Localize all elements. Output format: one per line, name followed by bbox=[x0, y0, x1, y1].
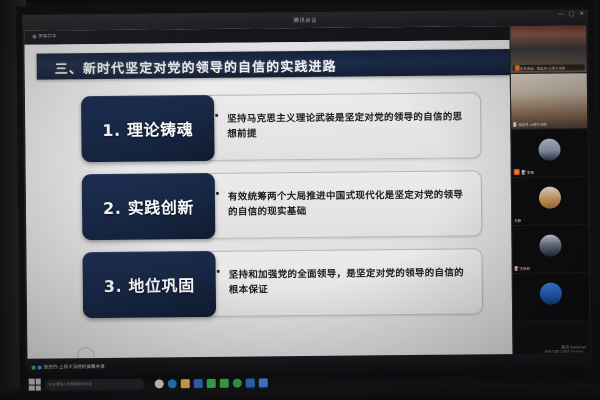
app-icon-2[interactable] bbox=[259, 378, 268, 387]
participant-tile-avatar[interactable]: 王艳丽 bbox=[512, 225, 588, 274]
slide-row-badge-label: 1. 理论铸魂 bbox=[102, 116, 193, 141]
slide-row: 2. 实践创新 有效统筹两个大局推进中国式现代化是坚定对党的领导的自信的现实基础 bbox=[82, 170, 483, 240]
participant-tile-video[interactable]: 张志丹-上师大马院 bbox=[511, 73, 588, 130]
slide-row: 3. 地位巩固 坚持和加强党的全面领导，是坚定对党的领导的自信的根本保证 bbox=[82, 248, 483, 318]
presentation-slide: 三、新时代坚定对党的领导的自信的实践进路 1. 理论铸魂 坚持马克思主义理论武装… bbox=[24, 40, 513, 375]
participant-tile-video[interactable]: ● 正在讲话：张志丹-上师大马院 bbox=[510, 25, 586, 74]
monitor-bezel: 腾讯会议 — ▢ ✕ 屏幕共享 三、新时代坚定对党的领导的自 bbox=[16, 1, 598, 400]
windows-activation-watermark: 激活 Windows 转到"设置"以激活 Windows。 bbox=[545, 344, 587, 353]
slide-row-badge: 1. 理论铸魂 bbox=[81, 95, 215, 162]
share-status-label: 屏幕共享 bbox=[38, 33, 56, 39]
search-placeholder: 在这里输入你要搜索的内容 bbox=[49, 382, 92, 387]
participant-name-row: 张志丹-上师大马院 bbox=[513, 122, 546, 127]
participant-name: 王艳丽 bbox=[520, 266, 530, 271]
slide-row-badge-label: 2. 实践创新 bbox=[103, 194, 194, 219]
microphone-icon bbox=[513, 122, 516, 127]
screen-share-status: 张志丹-上师大马院的屏幕共享 bbox=[32, 364, 105, 371]
slide-row: 1. 理论铸魂 坚持马克思主义理论武装是坚定对党的领导的自信的思想前提 bbox=[81, 92, 482, 162]
start-button-icon[interactable] bbox=[29, 379, 41, 391]
avatar bbox=[539, 186, 561, 208]
cortana-icon[interactable] bbox=[155, 379, 164, 388]
microphone-muted-icon bbox=[522, 169, 525, 174]
slide-row-badge-label: 3. 地位巩固 bbox=[104, 272, 195, 297]
wps-icon[interactable] bbox=[220, 378, 229, 387]
bullet-icon bbox=[217, 270, 220, 273]
screen-share-label: 张志丹-上师大马院的屏幕共享 bbox=[44, 364, 105, 371]
user-icon bbox=[38, 366, 42, 370]
wechat-icon[interactable] bbox=[207, 378, 216, 387]
browser-icon[interactable] bbox=[194, 379, 203, 388]
slide-title: 三、新时代坚定对党的领导的自信的实践进路 bbox=[55, 56, 337, 78]
shared-screen-region: 屏幕共享 三、新时代坚定对党的领导的自信的实践进路 1. 理论铸魂 bbox=[24, 26, 513, 375]
minimize-icon[interactable]: — bbox=[557, 12, 563, 18]
participant-name-row: 主 李梅 bbox=[514, 169, 534, 175]
avatar bbox=[538, 138, 560, 160]
edge-icon[interactable] bbox=[168, 379, 177, 388]
bullet-icon bbox=[216, 192, 219, 195]
screen-share-icon bbox=[32, 366, 36, 370]
slide-rows: 1. 理论铸魂 坚持马克思主义理论武装是坚定对党的领导的自信的思想前提 2. 实… bbox=[81, 92, 483, 330]
participant-name: 王静 bbox=[514, 218, 521, 223]
slide-row-body-text: 坚持马克思主义理论武装是坚定对党的领导的自信的思想前提 bbox=[227, 111, 468, 143]
participant-name-banner: ● 正在讲话：张志丹-上师大马院 bbox=[513, 64, 585, 71]
participant-name: 正在讲话：张志丹-上师大马院 bbox=[520, 65, 565, 70]
participant-name-row: 王艳丽 bbox=[515, 266, 530, 271]
avatar bbox=[539, 234, 561, 256]
participant-tile-avatar[interactable]: 主 李梅 bbox=[511, 129, 587, 178]
close-icon[interactable]: ✕ bbox=[579, 11, 584, 17]
share-indicator-icon bbox=[32, 35, 36, 39]
taskbar-search-input[interactable]: 在这里输入你要搜索的内容 bbox=[45, 378, 145, 390]
app-icon[interactable] bbox=[246, 378, 255, 387]
participant-name: 张志丹-上师大马院 bbox=[518, 122, 546, 127]
maximize-icon[interactable]: ▢ bbox=[568, 11, 574, 17]
meeting-icon[interactable] bbox=[233, 378, 242, 387]
participant-name: 李梅 bbox=[527, 169, 534, 174]
window-controls[interactable]: — ▢ ✕ bbox=[557, 11, 584, 17]
file-explorer-icon[interactable] bbox=[181, 379, 190, 388]
slide-title-banner: 三、新时代坚定对党的领导的自信的实践进路 bbox=[37, 49, 511, 80]
share-status: 屏幕共享 bbox=[32, 33, 56, 39]
participant-name-row: 王静 bbox=[514, 218, 521, 223]
screen: 腾讯会议 — ▢ ✕ 屏幕共享 三、新时代坚定对党的领导的自 bbox=[22, 9, 592, 392]
slide-row-body-text: 有效统筹两个大局推进中国式现代化是坚定对党的领导的自信的现实基础 bbox=[228, 189, 469, 221]
microphone-muted-icon bbox=[515, 266, 518, 271]
avatar bbox=[540, 282, 562, 304]
slide-row-badge: 3. 地位巩固 bbox=[82, 251, 216, 318]
participant-tile-avatar[interactable] bbox=[513, 273, 589, 322]
bullet-icon bbox=[215, 114, 218, 117]
slide-row-body: 坚持和加强党的全面领导，是坚定对党的领导的自信的根本保证 bbox=[203, 248, 483, 317]
host-badge: 主 bbox=[514, 169, 520, 175]
slide-row-body: 坚持马克思主义理论武装是坚定对党的领导的自信的思想前提 bbox=[202, 92, 482, 161]
app-title: 腾讯会议 bbox=[293, 16, 317, 24]
slide-row-body-text: 坚持和加强党的全面领导，是坚定对党的领导的自信的根本保证 bbox=[229, 267, 470, 299]
taskbar-app-icons[interactable] bbox=[155, 378, 268, 388]
participant-strip[interactable]: ● 正在讲话：张志丹-上师大马院 张志丹-上师大马院 主 李梅 bbox=[509, 25, 589, 370]
slide-row-badge: 2. 实践创新 bbox=[82, 173, 216, 240]
slide-row-body: 有效统筹两个大局推进中国式现代化是坚定对党的领导的自信的现实基础 bbox=[203, 170, 483, 239]
participant-tile-avatar[interactable]: 王静 bbox=[512, 177, 588, 226]
monitor-photo: 腾讯会议 — ▢ ✕ 屏幕共享 三、新时代坚定对党的领导的自 bbox=[0, 0, 600, 400]
